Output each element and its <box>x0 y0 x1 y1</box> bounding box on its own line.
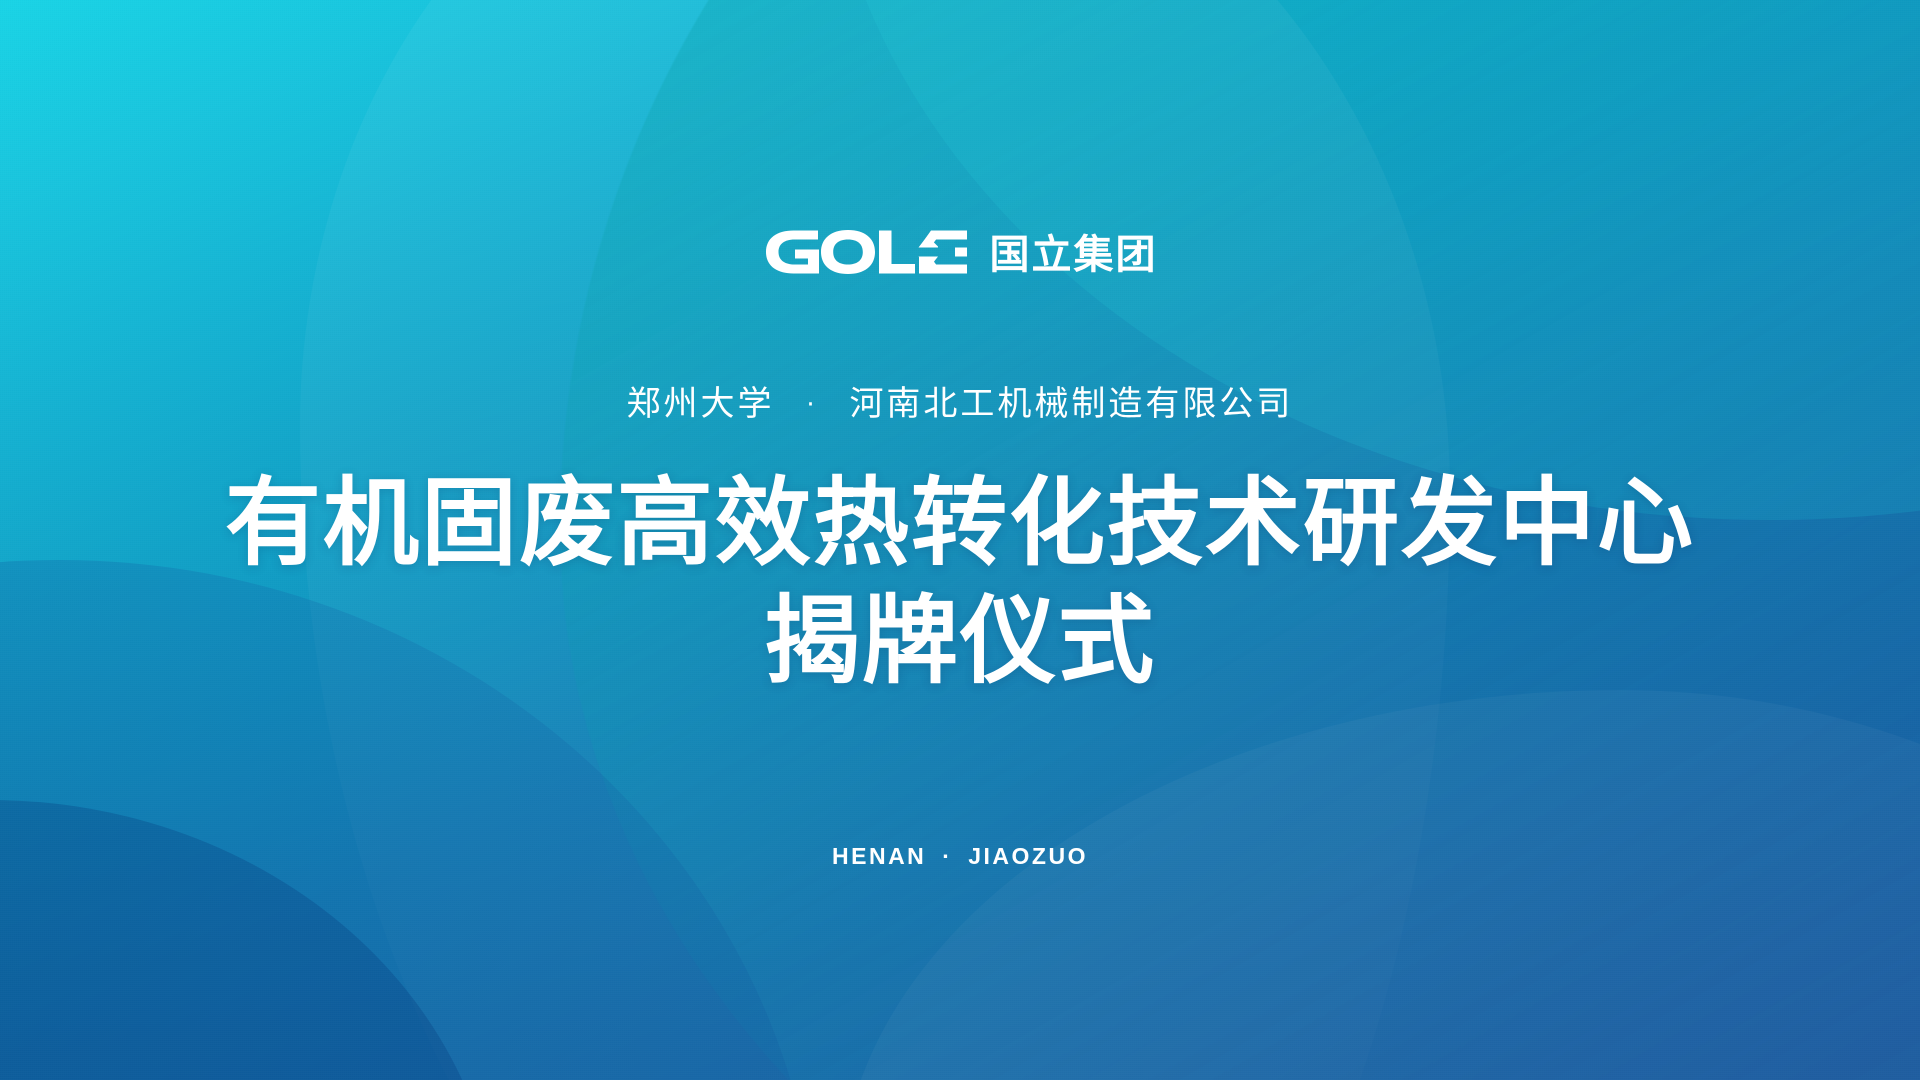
slide-content: 国立集团 郑州大学 · 河南北工机械制造有限公司 有机固废高效热转化技术研发中心… <box>0 0 1920 1080</box>
partner-company: 河南北工机械制造有限公司 <box>849 384 1293 424</box>
locale-province: HENAN <box>832 843 926 869</box>
partners-line: 郑州大学 · 河南北工机械制造有限公司 <box>0 384 1920 425</box>
presentation-slide: 国立集团 郑州大学 · 河南北工机械制造有限公司 有机固废高效热转化技术研发中心… <box>0 0 1920 1080</box>
page-title: 有机固废高效热转化技术研发中心 揭牌仪式 <box>0 465 1920 699</box>
locale-footer: HENAN · JIAOZUO <box>0 843 1920 870</box>
gole-wordmark-logo-icon <box>763 228 968 281</box>
brand-logo-lockup: 国立集团 <box>0 228 1920 281</box>
brand-chinese-name: 国立集团 <box>990 235 1158 275</box>
page-title-line-2: 揭牌仪式 <box>0 583 1920 700</box>
locale-separator: · <box>935 843 959 870</box>
locale-city: JIAOZUO <box>968 843 1088 869</box>
page-title-line-1: 有机固废高效热转化技术研发中心 <box>0 465 1920 582</box>
partner-separator: · <box>788 390 835 421</box>
partner-university: 郑州大学 <box>627 384 775 424</box>
